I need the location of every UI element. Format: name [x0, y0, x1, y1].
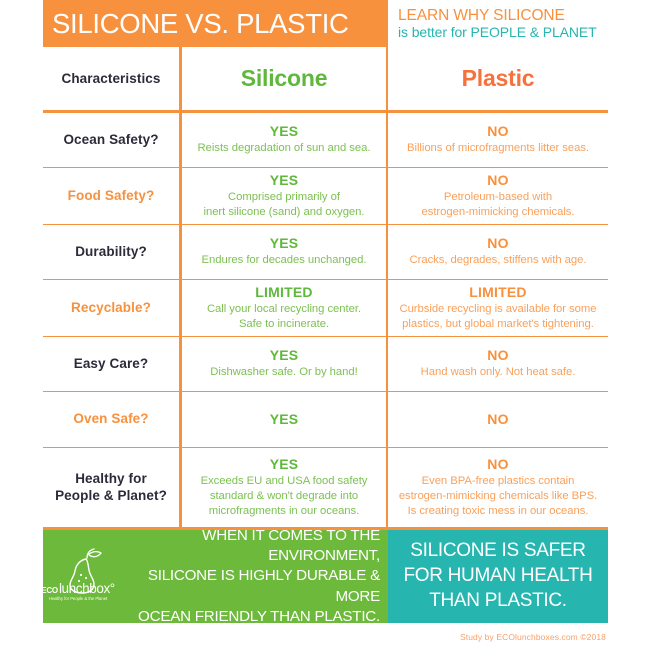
- plastic-detail: Cracks, degrades, stiffens with age.: [410, 253, 587, 268]
- plastic-verdict: NO: [487, 235, 508, 251]
- row-characteristic-cell: Ocean Safety?: [43, 113, 182, 167]
- row-characteristic-label: Healthy forPeople & Planet?: [55, 471, 167, 505]
- column-header-characteristics: Characteristics: [43, 47, 182, 110]
- silicone-detail: Call your local recycling center.Safe to…: [207, 302, 361, 332]
- infographic-root: SILICONE VS. PLASTIC LEARN WHY SILICONE …: [43, 0, 608, 650]
- footer-banner: ECO lunchbox° Healthy for People & the P…: [43, 527, 608, 623]
- silicone-verdict: YES: [270, 411, 299, 427]
- plastic-verdict: NO: [487, 411, 508, 427]
- logo-tagline: Healthy for People & the Planet: [49, 596, 107, 601]
- silicone-verdict: LIMITED: [255, 284, 312, 300]
- plastic-verdict: LIMITED: [469, 284, 526, 300]
- row-characteristic-label: Recyclable?: [71, 300, 151, 317]
- row-characteristic-label: Durability?: [75, 244, 147, 261]
- header-subtitle-block: LEARN WHY SILICONE is better for PEOPLE …: [388, 0, 608, 47]
- column-header-silicone-label: Silicone: [241, 65, 328, 92]
- row-characteristic-cell: Durability?: [43, 225, 182, 279]
- table-row: Easy Care?YESDishwasher safe. Or by hand…: [43, 336, 608, 391]
- column-header-plastic-label: Plastic: [462, 65, 535, 92]
- row-silicone-cell: YESExceeds EU and USA food safetystandar…: [182, 448, 388, 527]
- header-subtitle-line2: is better for PEOPLE & PLANET: [398, 24, 608, 40]
- logo-lunchbox-text: lunchbox°: [59, 582, 115, 596]
- plastic-detail: Curbside recycling is available for some…: [399, 302, 596, 332]
- silicone-detail: Comprised primarily ofinert silicone (sa…: [204, 190, 365, 220]
- footer-green-panel: ECO lunchbox° Healthy for People & the P…: [43, 530, 388, 623]
- table-body: Ocean Safety?YESReists degradation of su…: [43, 110, 608, 527]
- silicone-verdict: YES: [270, 347, 299, 363]
- row-characteristic-label: Food Safety?: [68, 188, 155, 205]
- silicone-detail: Exceeds EU and USA food safetystandard &…: [201, 474, 368, 519]
- header: SILICONE VS. PLASTIC LEARN WHY SILICONE …: [43, 0, 608, 47]
- row-characteristic-cell: Recyclable?: [43, 280, 182, 336]
- logo-wordmark: ECO lunchbox°: [41, 582, 115, 596]
- plastic-verdict: NO: [487, 172, 508, 188]
- row-silicone-cell: YESEndures for decades unchanged.: [182, 225, 388, 279]
- credit-text: Study by ECOlunchboxes.com ©2018: [460, 632, 606, 642]
- ecolunchbox-logo: ECO lunchbox° Healthy for People & the P…: [47, 548, 109, 606]
- page-title: SILICONE VS. PLASTIC: [52, 10, 349, 38]
- row-plastic-cell: NOHand wash only. Not heat safe.: [388, 337, 608, 391]
- row-characteristic-cell: Food Safety?: [43, 168, 182, 224]
- table-row: Oven Safe?YESNO: [43, 391, 608, 447]
- row-characteristic-label: Ocean Safety?: [63, 132, 158, 149]
- footer-green-message: WHEN IT COMES TO THE ENVIRONMENT,SILICON…: [109, 526, 382, 626]
- table-row: Food Safety?YESComprised primarily ofine…: [43, 167, 608, 224]
- plastic-detail: Hand wash only. Not heat safe.: [421, 365, 576, 380]
- row-characteristic-cell: Oven Safe?: [43, 392, 182, 447]
- table-row: Durability?YESEndures for decades unchan…: [43, 224, 608, 279]
- table-row: Healthy forPeople & Planet?YESExceeds EU…: [43, 447, 608, 527]
- silicone-detail: Dishwasher safe. Or by hand!: [210, 365, 357, 380]
- row-plastic-cell: LIMITEDCurbside recycling is available f…: [388, 280, 608, 336]
- row-characteristic-label: Oven Safe?: [73, 411, 148, 428]
- column-header-characteristics-label: Characteristics: [61, 71, 160, 86]
- table-header-row: Characteristics Silicone Plastic: [43, 47, 608, 110]
- row-characteristic-label: Easy Care?: [74, 356, 149, 373]
- plastic-verdict: NO: [487, 123, 508, 139]
- plastic-detail: Petroleum-based withestrogen-mimicking c…: [422, 190, 575, 220]
- row-silicone-cell: YES: [182, 392, 388, 447]
- column-header-plastic: Plastic: [388, 47, 608, 110]
- row-silicone-cell: LIMITEDCall your local recycling center.…: [182, 280, 388, 336]
- plastic-verdict: NO: [487, 456, 508, 472]
- silicone-verdict: YES: [270, 123, 299, 139]
- silicone-detail: Reists degradation of sun and sea.: [198, 141, 371, 156]
- row-silicone-cell: YESComprised primarily ofinert silicone …: [182, 168, 388, 224]
- table-row: Ocean Safety?YESReists degradation of su…: [43, 110, 608, 167]
- row-characteristic-cell: Healthy forPeople & Planet?: [43, 448, 182, 527]
- row-plastic-cell: NO: [388, 392, 608, 447]
- row-silicone-cell: YESDishwasher safe. Or by hand!: [182, 337, 388, 391]
- credit-bar: Study by ECOlunchboxes.com ©2018: [43, 623, 608, 651]
- silicone-verdict: YES: [270, 172, 299, 188]
- row-plastic-cell: NOBillions of microfragments litter seas…: [388, 113, 608, 167]
- row-characteristic-cell: Easy Care?: [43, 337, 182, 391]
- row-silicone-cell: YESReists degradation of sun and sea.: [182, 113, 388, 167]
- footer-teal-message: SILICONE IS SAFERFOR HUMAN HEALTHTHAN PL…: [403, 539, 592, 613]
- logo-eco-text: ECO: [41, 586, 58, 595]
- row-plastic-cell: NOPetroleum-based withestrogen-mimicking…: [388, 168, 608, 224]
- plastic-detail: Even BPA-free plastics containestrogen-m…: [399, 474, 597, 519]
- footer-teal-panel: SILICONE IS SAFERFOR HUMAN HEALTHTHAN PL…: [388, 530, 608, 623]
- silicone-detail: Endures for decades unchanged.: [202, 253, 367, 268]
- comparison-table: Characteristics Silicone Plastic Ocean S…: [43, 47, 608, 527]
- table-row: Recyclable?LIMITEDCall your local recycl…: [43, 279, 608, 336]
- plastic-detail: Billions of microfragments litter seas.: [407, 141, 589, 156]
- plastic-verdict: NO: [487, 347, 508, 363]
- column-header-silicone: Silicone: [182, 47, 388, 110]
- row-plastic-cell: NOEven BPA-free plastics containestrogen…: [388, 448, 608, 527]
- silicone-verdict: YES: [270, 456, 299, 472]
- row-plastic-cell: NOCracks, degrades, stiffens with age.: [388, 225, 608, 279]
- header-title-banner: SILICONE VS. PLASTIC: [43, 0, 388, 47]
- header-subtitle-line1: LEARN WHY SILICONE: [398, 7, 608, 24]
- silicone-verdict: YES: [270, 235, 299, 251]
